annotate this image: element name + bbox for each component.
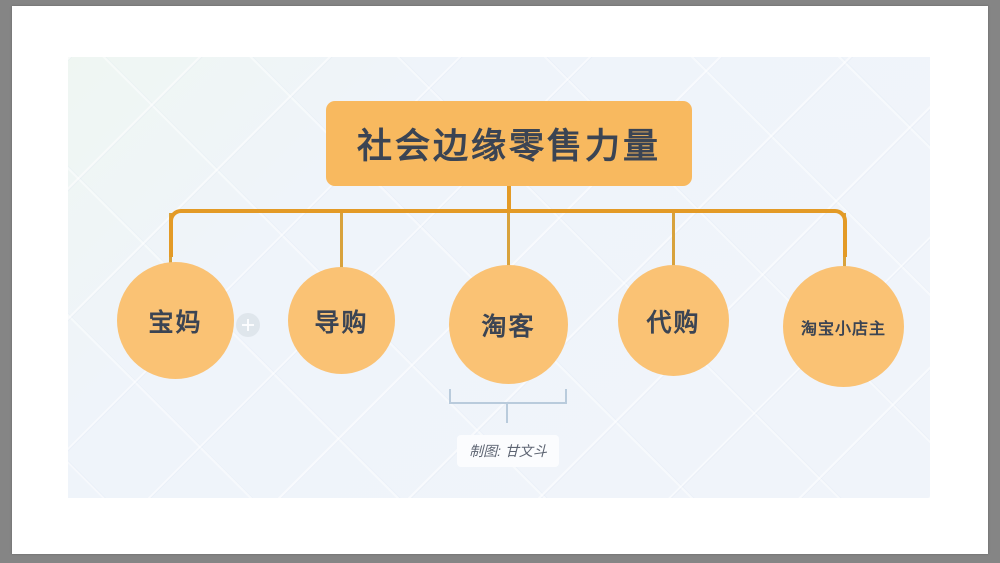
credit-bracket [449, 389, 567, 404]
node-label-taobao-shop-owner: 淘宝小店主 [801, 315, 886, 339]
node-label-daogou: 导购 [314, 303, 368, 339]
node-taoke[interactable]: 淘客 [449, 265, 568, 384]
node-taobao-shop-owner[interactable]: 淘宝小店主 [783, 266, 904, 387]
node-label-daigou: 代购 [646, 303, 700, 339]
node-daigou[interactable]: 代购 [618, 265, 729, 376]
credit-bracket-stem [506, 404, 508, 423]
connector-horizontal-bar [169, 209, 847, 257]
screenshot-frame: 社会边缘零售力量 宝妈 导购 淘客 代购 [0, 0, 1000, 563]
diagram-title-node[interactable]: 社会边缘零售力量 [326, 101, 692, 186]
node-baoma[interactable]: 宝妈 [117, 262, 234, 379]
credit-chip: 制图: 甘文斗 [457, 435, 559, 467]
connector-title-stem [507, 186, 511, 211]
diagram-title-text: 社会边缘零售力量 [357, 118, 661, 169]
credit-text: 制图: 甘文斗 [469, 441, 547, 461]
node-daogou[interactable]: 导购 [288, 267, 395, 374]
document-page: 社会边缘零售力量 宝妈 导购 淘客 代购 [12, 6, 988, 554]
plus-icon [236, 313, 260, 337]
node-label-taoke: 淘客 [481, 307, 535, 343]
node-label-baoma: 宝妈 [148, 303, 202, 339]
diagram-canvas: 社会边缘零售力量 宝妈 导购 淘客 代购 [68, 57, 930, 498]
